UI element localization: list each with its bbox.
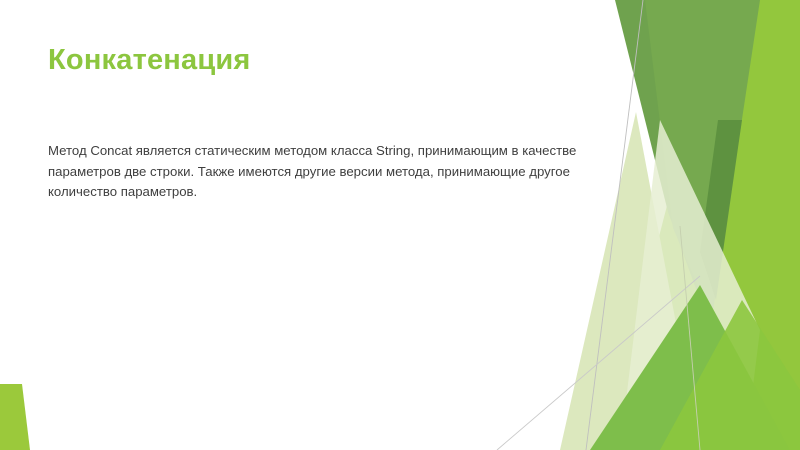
page-title: Конкатенация bbox=[48, 44, 251, 77]
decor-shape-lower-green bbox=[590, 285, 790, 450]
decor-shape-bright-sweep bbox=[604, 0, 800, 450]
decor-shape-pale-overlay bbox=[620, 120, 760, 450]
decor-hairline-crossing bbox=[497, 276, 700, 450]
decor-shape-lower-bright bbox=[660, 300, 800, 450]
decor-shape-bright-right bbox=[640, 0, 800, 450]
decor-shape-deep-overlap bbox=[700, 120, 742, 300]
slide-body-text: Метод Concat является статическим методо… bbox=[48, 141, 593, 203]
decor-shape-left-accent bbox=[0, 384, 30, 450]
decor-hairline-left-long bbox=[586, 0, 643, 450]
decor-hairline-pale-region bbox=[680, 226, 700, 450]
presentation-slide: Конкатенация Метод Concat является стати… bbox=[0, 0, 800, 450]
decor-shape-dark-wedge bbox=[615, 0, 745, 300]
decor-shape-mid-wedge bbox=[645, 0, 760, 318]
